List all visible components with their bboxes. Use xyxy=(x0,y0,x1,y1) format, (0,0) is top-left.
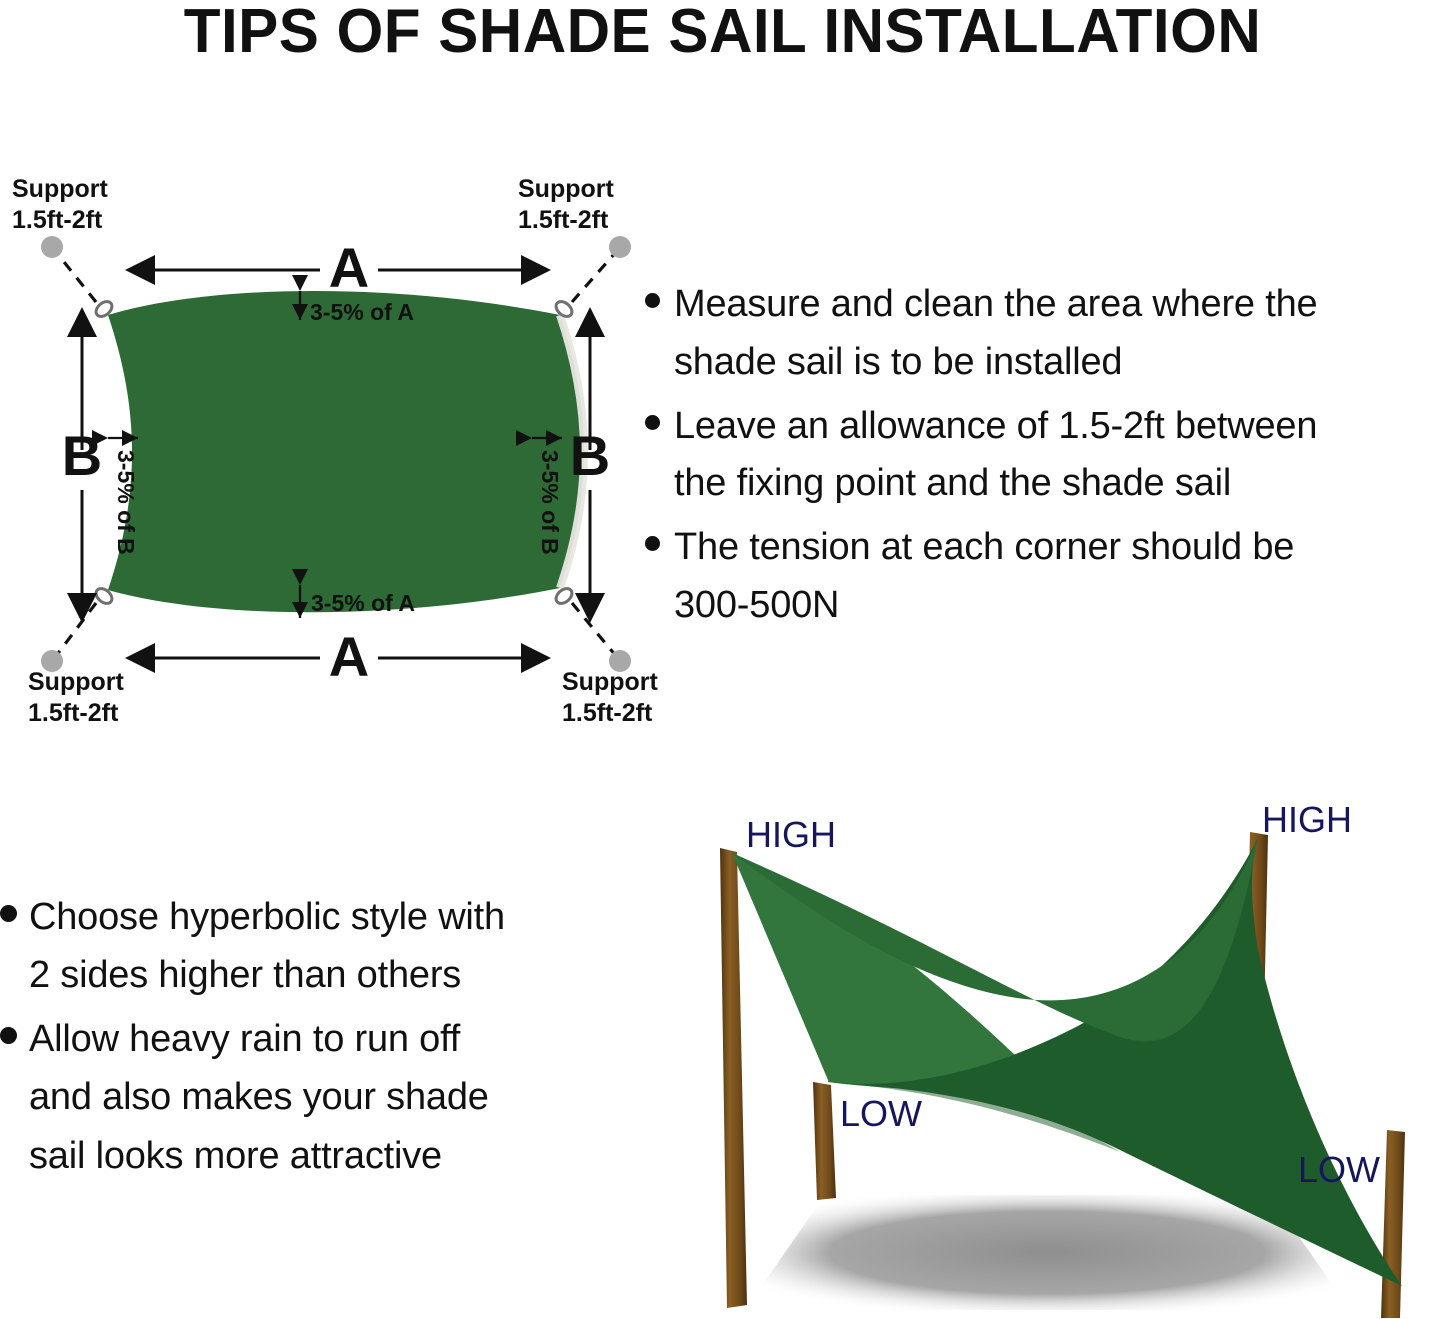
support-label-bottom-left-line2: 1.5ft-2ft xyxy=(28,699,119,727)
tip-line: 300-500N xyxy=(674,577,1294,635)
curve-label-left: 3-5% of B xyxy=(113,450,139,555)
tip-line: The tension at each corner should be xyxy=(674,519,1294,577)
tip-text: Measure and clean the area where the sha… xyxy=(674,276,1317,392)
label-high-left: HIGH xyxy=(746,814,836,855)
sail-shape xyxy=(108,291,584,612)
tip-text: Leave an allowance of 1.5-2ft between th… xyxy=(674,398,1317,514)
tip-item: The tension at each corner should be 300… xyxy=(645,519,1445,635)
tip-line: Measure and clean the area where the xyxy=(674,276,1317,334)
curve-label-bottom: 3-5% of A xyxy=(311,590,415,616)
tip-item: Allow heavy rain to run off and also mak… xyxy=(0,1010,625,1184)
dim-label-A-top: A xyxy=(329,236,369,299)
dim-label-B-left: B xyxy=(62,424,102,487)
support-label-top-right-line1: Support xyxy=(518,175,614,203)
tip-line: and also makes your shade xyxy=(29,1068,489,1126)
tip-line: Allow heavy rain to run off xyxy=(29,1010,489,1068)
tips-list-bottom: Choose hyperbolic style with 2 sides hig… xyxy=(0,888,625,1191)
support-line-bottom-right xyxy=(572,603,616,656)
support-label-top-right-line2: 1.5ft-2ft xyxy=(518,206,609,234)
label-low-left: LOW xyxy=(840,1093,922,1134)
support-label-bottom-right-line2: 1.5ft-2ft xyxy=(562,699,653,727)
tip-text: Choose hyperbolic style with 2 sides hig… xyxy=(29,888,505,1004)
label-high-right: HIGH xyxy=(1262,799,1352,840)
curve-label-top: 3-5% of A xyxy=(310,299,414,325)
label-low-right: LOW xyxy=(1298,1149,1380,1190)
bullet-dot-icon xyxy=(645,536,660,551)
tip-line: Choose hyperbolic style with xyxy=(29,888,505,946)
tip-item: Measure and clean the area where the sha… xyxy=(645,276,1445,392)
support-label-top-left-line2: 1.5ft-2ft xyxy=(12,206,103,234)
support-line-bottom-left xyxy=(56,603,96,656)
bullet-dot-icon xyxy=(0,1027,17,1044)
tips-list-right: Measure and clean the area where the sha… xyxy=(645,276,1445,641)
tip-text: The tension at each corner should be 300… xyxy=(674,519,1294,635)
bullet-dot-icon xyxy=(645,293,660,308)
bullet-dot-icon xyxy=(645,415,660,430)
support-dot-top-right xyxy=(609,236,631,258)
bullet-dot-icon xyxy=(0,905,17,922)
tip-item: Choose hyperbolic style with 2 sides hig… xyxy=(0,888,625,1004)
curve-label-right: 3-5% of B xyxy=(537,450,563,555)
post-low-left xyxy=(813,1082,836,1200)
support-label-top-left-line1: Support xyxy=(12,175,108,203)
rectangular-sail-diagram: Support 1.5ft-2ft Support 1.5ft-2ft Supp… xyxy=(0,150,700,750)
support-line-top-right xyxy=(572,252,616,302)
dim-label-B-right: B xyxy=(570,424,610,487)
tip-text: Allow heavy rain to run off and also mak… xyxy=(29,1010,489,1184)
tip-item: Leave an allowance of 1.5-2ft between th… xyxy=(645,398,1445,514)
tip-line: Leave an allowance of 1.5-2ft between xyxy=(674,398,1317,456)
support-label-bottom-right-line1: Support xyxy=(562,668,658,696)
tip-line: 2 sides higher than others xyxy=(29,946,505,1004)
support-label-bottom-left-line1: Support xyxy=(28,668,124,696)
tip-line: sail looks more attractive xyxy=(29,1127,489,1185)
support-line-top-left xyxy=(56,252,96,302)
tip-line: the fixing point and the shade sail xyxy=(674,455,1317,513)
dim-label-A-bottom: A xyxy=(329,625,369,688)
page-title: TIPS OF SHADE SAIL INSTALLATION xyxy=(22,0,1424,67)
post-low-right xyxy=(1381,1130,1405,1318)
tip-line: shade sail is to be installed xyxy=(674,334,1317,392)
corner-ring-bottom-right xyxy=(553,586,575,607)
hyperbolic-sail-illustration: HIGH HIGH LOW LOW xyxy=(650,790,1445,1319)
support-dot-top-left xyxy=(41,236,63,258)
post-high-left xyxy=(720,848,747,1308)
